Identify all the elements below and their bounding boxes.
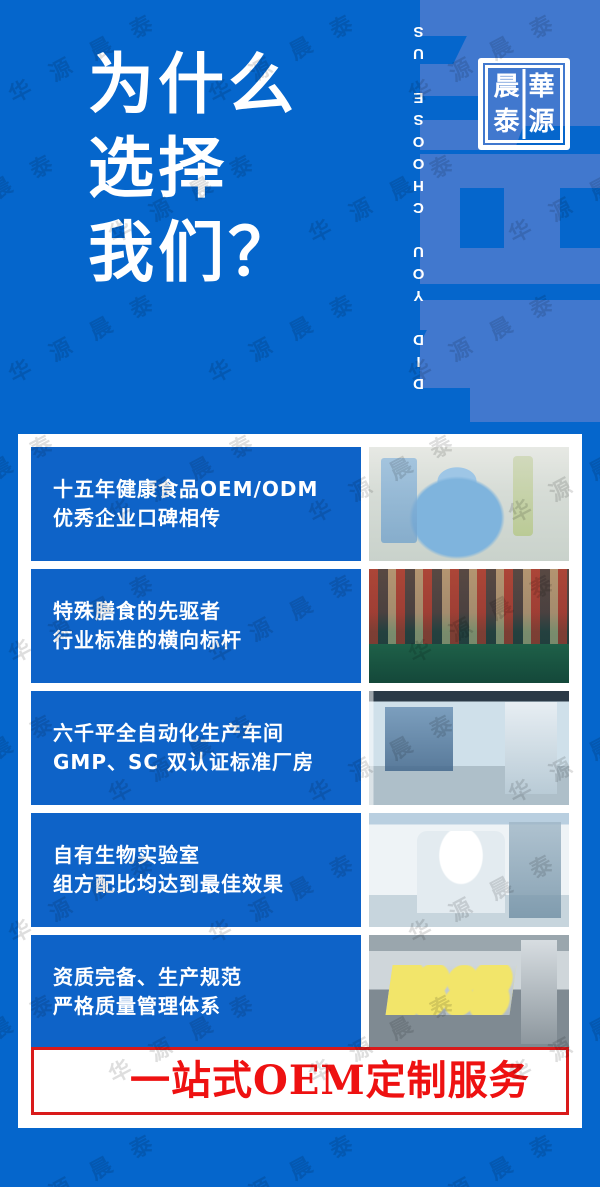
feature-line: 特殊膳食的先驱者 [53, 597, 361, 626]
features-panel: 十五年健康食品OEM/ODM 优秀企业口碑相传 特殊膳食的先驱者 行业标准的横向… [18, 434, 582, 1128]
feature-line: 自有生物实验室 [53, 841, 361, 870]
headline-line-2: 选择 [88, 132, 418, 206]
feature-card: 资质完备、生产规范 严格质量管理体系 [31, 935, 569, 1049]
feature-line: 组方配比均达到最佳效果 [53, 870, 361, 899]
seal-char-4: 源 [524, 104, 559, 139]
oem-service-banner-text: 一站式OEM定制服务 [130, 1061, 530, 1101]
watermark-text: 华 源 晨 泰 [2, 283, 164, 390]
feature-line: 严格质量管理体系 [53, 992, 361, 1021]
watermark-text: 华 源 晨 泰 [202, 1123, 364, 1187]
feature-card-text: 自有生物实验室 组方配比均达到最佳效果 [31, 813, 361, 927]
feature-card-list: 十五年健康食品OEM/ODM 优秀企业口碑相传 特殊膳食的先驱者 行业标准的横向… [31, 447, 569, 1057]
headline: 为什么 选择 我们？ [88, 48, 418, 290]
feature-line: 六千平全自动化生产车间 [53, 719, 361, 748]
oem-service-banner: 一站式OEM定制服务 [31, 1047, 569, 1115]
clean-room-corridor-photo [369, 691, 569, 805]
feature-line: 十五年健康食品OEM/ODM [53, 475, 361, 504]
watermark-text: 华 源 晨 泰 [0, 143, 65, 250]
seal-char-1: 晨 [489, 69, 524, 104]
poster-root: 为什么 选择 我们？ DID YOU CHOOSE US 晨 華 泰 源 十五年… [0, 0, 600, 1187]
feature-card-text: 六千平全自动化生产车间 GMP、SC 双认证标准厂房 [31, 691, 361, 805]
conference-audience-photo [369, 569, 569, 683]
headline-line-3: 我们？ [88, 216, 418, 290]
lab-technician-photo [369, 447, 569, 561]
watermark-text: 华 源 晨 泰 [402, 1123, 564, 1187]
feature-card: 自有生物实验室 组方配比均达到最佳效果 [31, 813, 569, 927]
watermark-text: 华 源 晨 泰 [2, 1123, 164, 1187]
vertical-english-label: DID YOU CHOOSE US [410, 10, 440, 400]
watermark-text: 华 源 晨 泰 [202, 283, 364, 390]
seal-character-grid: 晨 華 泰 源 [489, 69, 559, 139]
feature-card: 特殊膳食的先驱者 行业标准的横向标杆 [31, 569, 569, 683]
headline-line-1: 为什么 [88, 48, 418, 122]
feature-card-text: 特殊膳食的先驱者 行业标准的横向标杆 [31, 569, 361, 683]
tablet-packaging-machine-photo [369, 935, 569, 1049]
seal-char-2: 華 [524, 69, 559, 104]
feature-card: 十五年健康食品OEM/ODM 优秀企业口碑相传 [31, 447, 569, 561]
feature-line: 行业标准的横向标杆 [53, 626, 361, 655]
feature-card-text: 资质完备、生产规范 严格质量管理体系 [31, 935, 361, 1049]
seal-char-3: 泰 [489, 104, 524, 139]
feature-card: 六千平全自动化生产车间 GMP、SC 双认证标准厂房 [31, 691, 569, 805]
production-line-workers-photo [369, 813, 569, 927]
feature-line: 资质完备、生产规范 [53, 963, 361, 992]
feature-line: GMP、SC 双认证标准厂房 [53, 748, 361, 777]
company-seal-top: 晨 華 泰 源 [478, 58, 570, 150]
feature-line: 优秀企业口碑相传 [53, 504, 361, 533]
feature-card-text: 十五年健康食品OEM/ODM 优秀企业口碑相传 [31, 447, 361, 561]
